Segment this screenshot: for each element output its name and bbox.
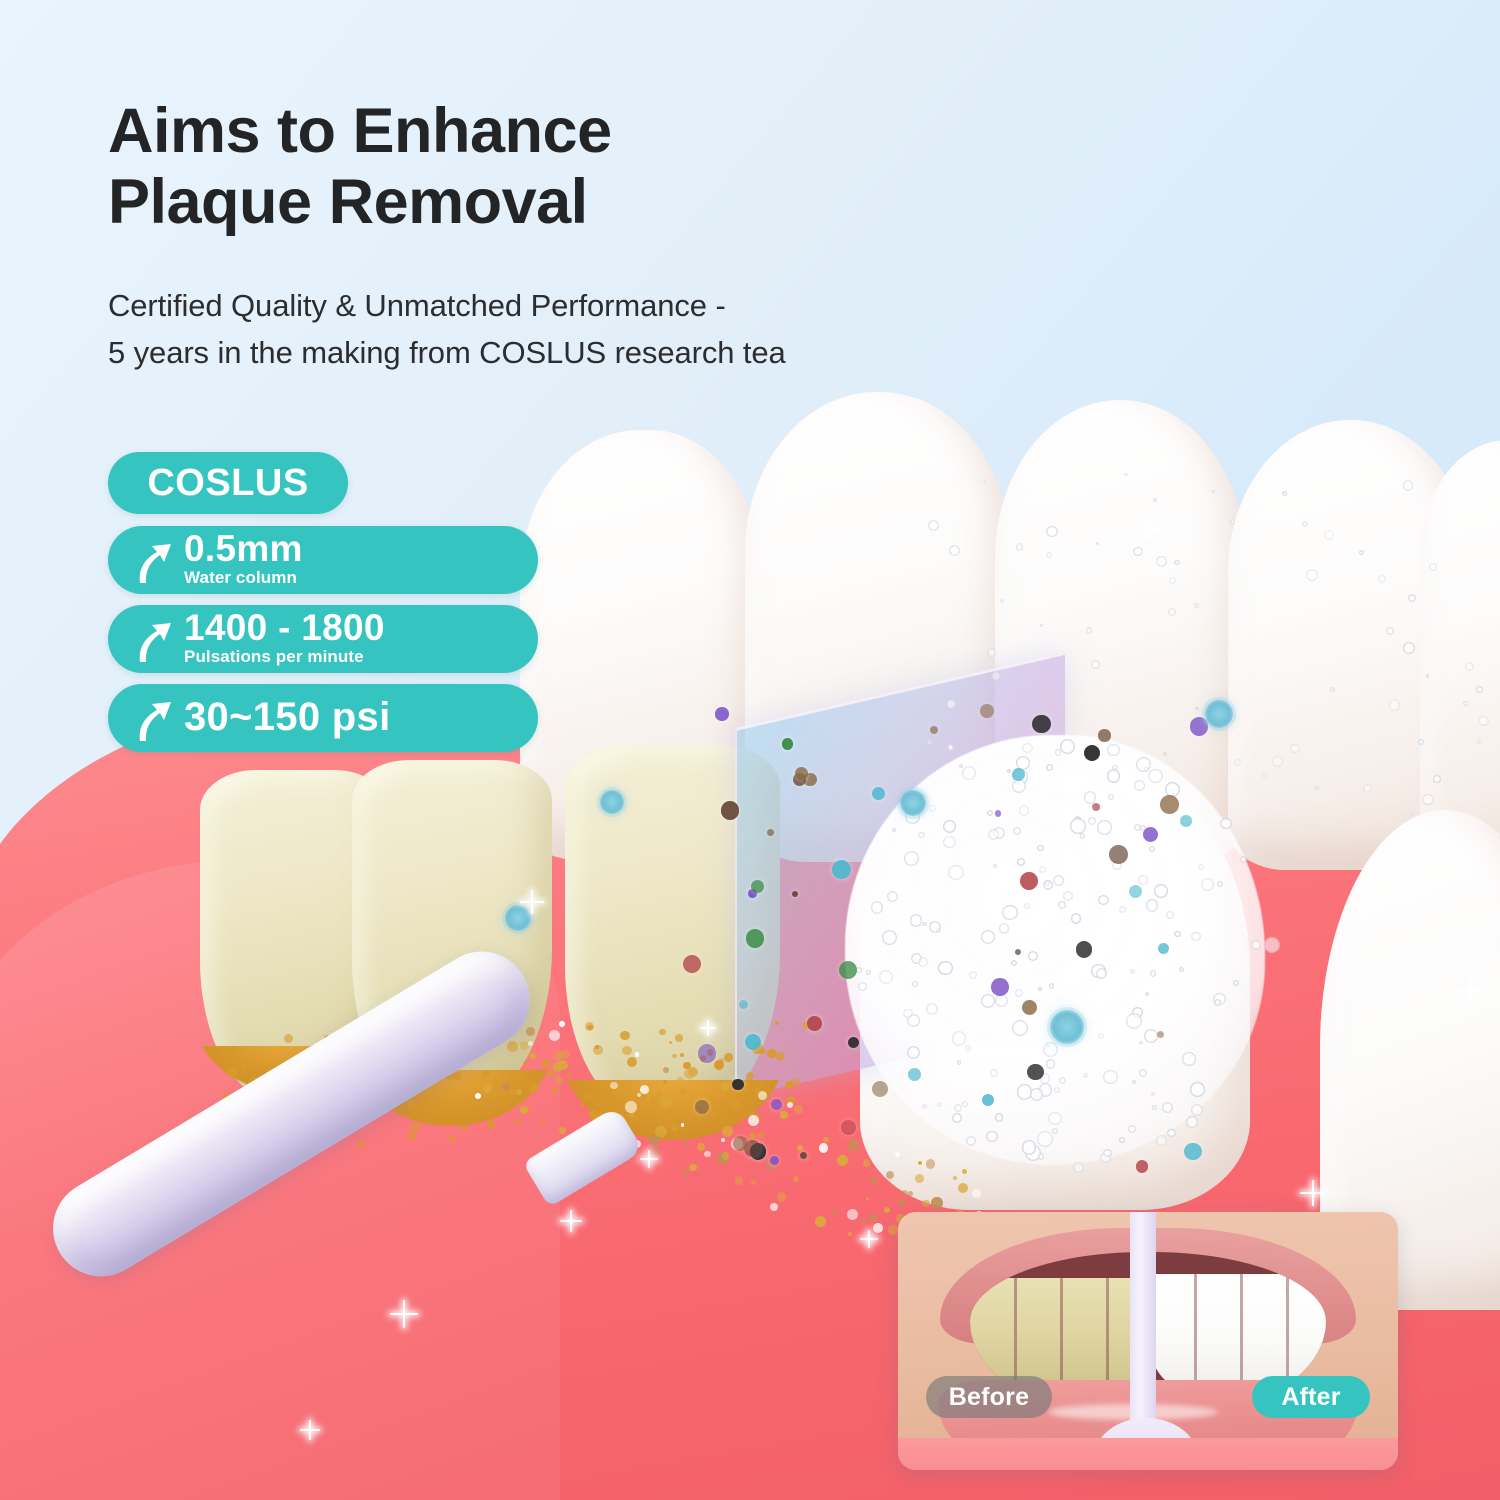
spec-badge-pressure: 30~150 psi [108,684,538,752]
plaque-particle [901,1190,907,1196]
water-bubble [1145,992,1149,996]
bacteria-particle [1012,768,1025,781]
bacteria-particle [1158,943,1169,954]
plaque-particle [528,1041,533,1046]
plaque-particle [869,1175,879,1185]
water-bubble [1167,1129,1176,1138]
brand-badge-label: COSLUS [147,462,308,505]
water-bubble [943,820,956,833]
inset-flosser-wand [1130,1212,1156,1444]
water-bubble [1049,983,1054,988]
water-bubble [946,699,956,709]
water-bubble [1048,1112,1061,1125]
water-bubble [918,957,928,967]
plaque-particle [622,1046,631,1055]
water-flosser-wand [60,1055,620,1500]
plaque-particle [837,1155,848,1166]
bacteria-particle [1032,715,1050,733]
plaque-particle [873,1223,883,1233]
bacteria-particle [1098,729,1110,741]
plaque-particle [655,1126,667,1138]
bacteria-virus [900,790,926,816]
bacteria-particle [1184,1143,1202,1161]
plaque-particle [958,1183,968,1193]
plaque-particle [861,1218,866,1223]
before-label-text: Before [949,1383,1029,1412]
bacteria-particle [721,801,739,819]
plaque-particle [908,1191,913,1196]
plaque-particle [681,1123,684,1126]
water-bubble [1262,773,1266,777]
water-bubble [1217,881,1223,887]
water-bubble [1418,739,1424,745]
water-bubble [1134,780,1145,791]
water-bubble [1314,786,1318,790]
plaque-particle [847,1139,859,1151]
plaque-particle [507,1041,518,1052]
water-bubble [1019,805,1029,815]
water-bubble [1103,1149,1111,1157]
bacteria-particle [751,880,764,893]
water-bubble [879,970,893,984]
water-bubble [1179,967,1184,972]
water-bubble [1154,884,1168,898]
water-bubble [1190,1082,1204,1096]
bacteria-particle [1027,1064,1044,1081]
plaque-particle [815,1216,826,1227]
bacteria-particle [1160,795,1178,813]
bacteria-virus [600,790,624,814]
plaque-particle [640,1085,649,1094]
bacteria-virus [1050,1010,1084,1044]
water-bubble [1156,556,1167,567]
plaque-particle [777,1192,787,1202]
bacteria-particle [995,810,1002,817]
plaque-particle [895,1152,900,1157]
plaque-particle [780,1111,788,1119]
water-bubble [1429,563,1437,571]
spec-badge-water-column: 0.5mm Water column [108,526,538,594]
plaque-particle [915,1174,924,1183]
water-bubble [1149,846,1155,852]
before-after-inset: Before After [898,1212,1398,1470]
water-bubble [986,1131,998,1143]
water-bubble [1389,699,1401,711]
plaque-particle [962,1169,967,1174]
water-bubble [1038,1153,1045,1160]
water-bubble [1152,1105,1157,1110]
plaque-particle [663,1067,669,1073]
bacteria-particle [698,1044,716,1062]
plaque-particle [549,1030,560,1041]
plaque-particle [526,1027,535,1036]
water-bubble [1124,473,1127,476]
plaque-particle [751,1179,756,1184]
up-arrow-swoosh-icon [130,614,184,664]
spec-sublabel-0: Water column [184,568,303,588]
water-bubble [1024,903,1030,909]
plaque-particle [863,1159,871,1167]
bacteria-particle [771,1099,782,1110]
plaque-particle [520,1041,529,1050]
water-bubble [1148,769,1162,783]
plaque-particle [770,1203,778,1211]
water-bubble [871,901,883,913]
plaque-particle [735,1176,744,1185]
bacteria-particle [683,955,701,973]
water-bubble [1174,560,1179,565]
water-bubble [1403,480,1414,491]
plaque-particle [953,1176,957,1180]
plaque-particle [721,1138,725,1142]
water-bubble [1037,1131,1053,1147]
plaque-particle [847,1209,858,1220]
water-bubble [1403,642,1415,654]
water-bubble [910,914,922,926]
water-bubble [1052,1128,1057,1133]
water-bubble [927,740,932,745]
water-bubble [990,1069,998,1077]
bacteria-particle [848,1037,860,1049]
teeth-white-half [1148,1274,1326,1390]
plaque-particle [652,1148,659,1155]
water-bubble [1168,608,1176,616]
water-bubble [1476,686,1483,693]
plaque-particle [722,1126,733,1137]
brand-badge: COSLUS [108,452,348,514]
spec-sublabel-1: Pulsations per minute [184,647,385,667]
up-arrow-swoosh-icon [130,535,184,585]
plaque-particle [559,1021,565,1027]
plaque-particle [972,1189,981,1198]
plaque-particle [931,1197,943,1209]
water-bubble [1046,552,1052,558]
water-bubble [1046,526,1057,537]
bacteria-particle [770,1156,779,1165]
water-bubble [1163,752,1167,756]
water-bubble [981,930,995,944]
water-bubble [1234,759,1241,766]
water-bubble [965,1045,971,1051]
water-bubble [947,744,954,751]
water-bubble [1030,1088,1043,1101]
water-bubble [918,832,924,838]
bacteria-particle [991,978,1009,996]
plaque-particle [682,1169,689,1176]
after-label-text: After [1281,1383,1340,1412]
water-bubble [1174,931,1181,938]
bacteria-particle [1022,1000,1037,1015]
water-bubble [1051,656,1054,659]
spec-value-1: 1400 - 1800 [184,609,385,646]
plaque-particle [635,1052,640,1057]
water-bubble [1045,880,1051,886]
water-bubble [1191,932,1200,941]
water-bubble [892,828,896,832]
water-bubble [988,829,999,840]
plaque-particle [794,1105,803,1114]
water-bubble [1107,744,1120,757]
plaque-particle [819,1143,828,1152]
plaque-particle [869,1214,877,1222]
water-bubble [1169,577,1176,584]
water-bubble [1139,1069,1147,1077]
plaque-particle [748,1115,759,1126]
water-bubble [938,961,953,976]
bacteria-particle [746,929,764,947]
bacteria-particle [872,1081,888,1097]
bacteria-particle [1020,872,1038,890]
plaque-particle [918,1161,922,1165]
marketing-banner: Aims to Enhance Plaque Removal Certified… [0,0,1500,1500]
water-bubble [922,922,926,926]
water-bubble [1073,1162,1084,1173]
bacteria-particle [715,707,729,721]
water-bubble [943,836,956,849]
water-bubble [1156,1135,1167,1146]
plaque-particle [684,1143,688,1147]
plaque-particle [722,1152,729,1159]
inset-bottom-strip [898,1438,1398,1470]
water-bubble [1084,791,1096,803]
bacteria-virus [505,905,531,931]
water-bubble [1126,1013,1142,1029]
water-bubble [922,1104,927,1109]
water-bubble [1144,1029,1158,1043]
plaque-particle [897,1199,905,1207]
plaque-particle [848,1232,852,1236]
spec-value-0: 0.5mm [184,530,303,567]
bacteria-particle [695,1100,709,1114]
water-bubble [1166,911,1174,919]
bacteria-particle [782,738,794,750]
plaque-particle [758,1091,768,1101]
water-bubble [1013,827,1021,835]
water-bubble [1060,739,1075,754]
water-bubble [1191,1104,1203,1116]
water-bubble [962,766,975,779]
water-bubble [983,480,986,483]
plaque-particle [797,1145,803,1151]
plaque-particle [922,1200,930,1208]
plaque-particle [793,1176,799,1182]
water-bubble [949,545,960,556]
plaque-particle [676,1077,684,1085]
water-bubble [952,1031,967,1046]
water-bubble [1000,599,1004,603]
plaque-particle [697,1143,706,1152]
bacteria-particle [745,1034,761,1050]
plaque-particle [832,1209,838,1215]
water-bubble [1463,701,1467,705]
tooth-molar-5 [1420,440,1500,870]
water-bubble [1264,937,1280,953]
water-bubble [1306,569,1318,581]
plaque-particle [684,1068,695,1079]
bacteria-particle [807,1016,822,1031]
water-bubble [991,671,1001,681]
spec-value-2: 30~150 psi [184,697,391,737]
bacteria-particle [1180,815,1192,827]
water-bubble [1119,1137,1125,1143]
water-bubble [1080,833,1085,838]
water-bubble [903,1009,912,1018]
water-bubble [959,764,964,769]
water-bubble [1022,1140,1036,1154]
water-bubble [1070,818,1086,834]
water-bubble [1096,542,1099,545]
water-bubble [1478,716,1488,726]
water-bubble [882,930,897,945]
water-bubble [969,971,976,978]
water-bubble [1150,970,1156,976]
water-bubble [1040,624,1043,627]
water-bubble [1324,530,1334,540]
water-bubble [1230,519,1236,525]
teeth-stained-half [970,1278,1148,1390]
water-bubble [1108,794,1113,799]
bacteria-particle [1136,1160,1149,1173]
water-bubble [1214,999,1221,1006]
water-bubble [1363,784,1372,793]
bacteria-particle [800,1152,807,1159]
plaque-particle [661,1097,672,1108]
plaque-particle [787,1102,793,1108]
plaque-particle [689,1164,697,1172]
bacteria-particle [980,704,993,717]
water-bubble [1433,775,1440,782]
up-arrow-swoosh-icon [130,693,184,743]
before-label-pill: Before [926,1376,1052,1418]
water-bubble [1133,547,1143,557]
plaque-particle [866,1197,869,1200]
water-bubble [1028,951,1038,961]
bacteria-particle [930,726,938,734]
plaque-particle [886,1171,894,1179]
water-bubble [1112,765,1117,770]
plaque-particle [926,1159,936,1169]
water-bubble [987,648,996,657]
plaque-particle [625,1101,637,1113]
spec-badge-stack: COSLUS 0.5mm Water column 1400 - 1800 P [108,452,538,763]
after-label-pill: After [1252,1376,1370,1418]
water-bubble [1015,989,1023,997]
water-bubble [999,923,1009,933]
bacteria-virus [1205,700,1233,728]
bacteria-particle [841,1120,856,1135]
water-bubble [1059,1077,1066,1084]
bacteria-particle [795,767,808,780]
water-bubble [1098,895,1108,905]
water-bubble [1063,891,1073,901]
water-bubble [1138,875,1148,885]
water-bubble [954,1104,962,1112]
water-bubble [866,970,871,975]
water-bubble [1022,743,1032,753]
bacteria-particle [908,1068,921,1081]
plaque-particle [721,1082,730,1091]
plaque-particle [884,1207,890,1213]
water-bubble [948,865,963,880]
water-bubble [1272,756,1283,767]
bacteria-particle [839,961,857,979]
water-bubble [1195,707,1198,710]
plaque-particle [704,1151,711,1158]
water-bubble [1330,687,1335,692]
water-bubble [1290,744,1299,753]
water-bubble [1182,1052,1196,1066]
spec-badge-pulsations: 1400 - 1800 Pulsations per minute [108,605,538,673]
plaque-particle [637,1093,641,1097]
water-bubble [1426,674,1429,677]
water-bubble [858,982,867,991]
plaque-particle [888,1225,898,1235]
water-bubble [1046,1059,1056,1069]
bacteria-particle [1109,845,1128,864]
